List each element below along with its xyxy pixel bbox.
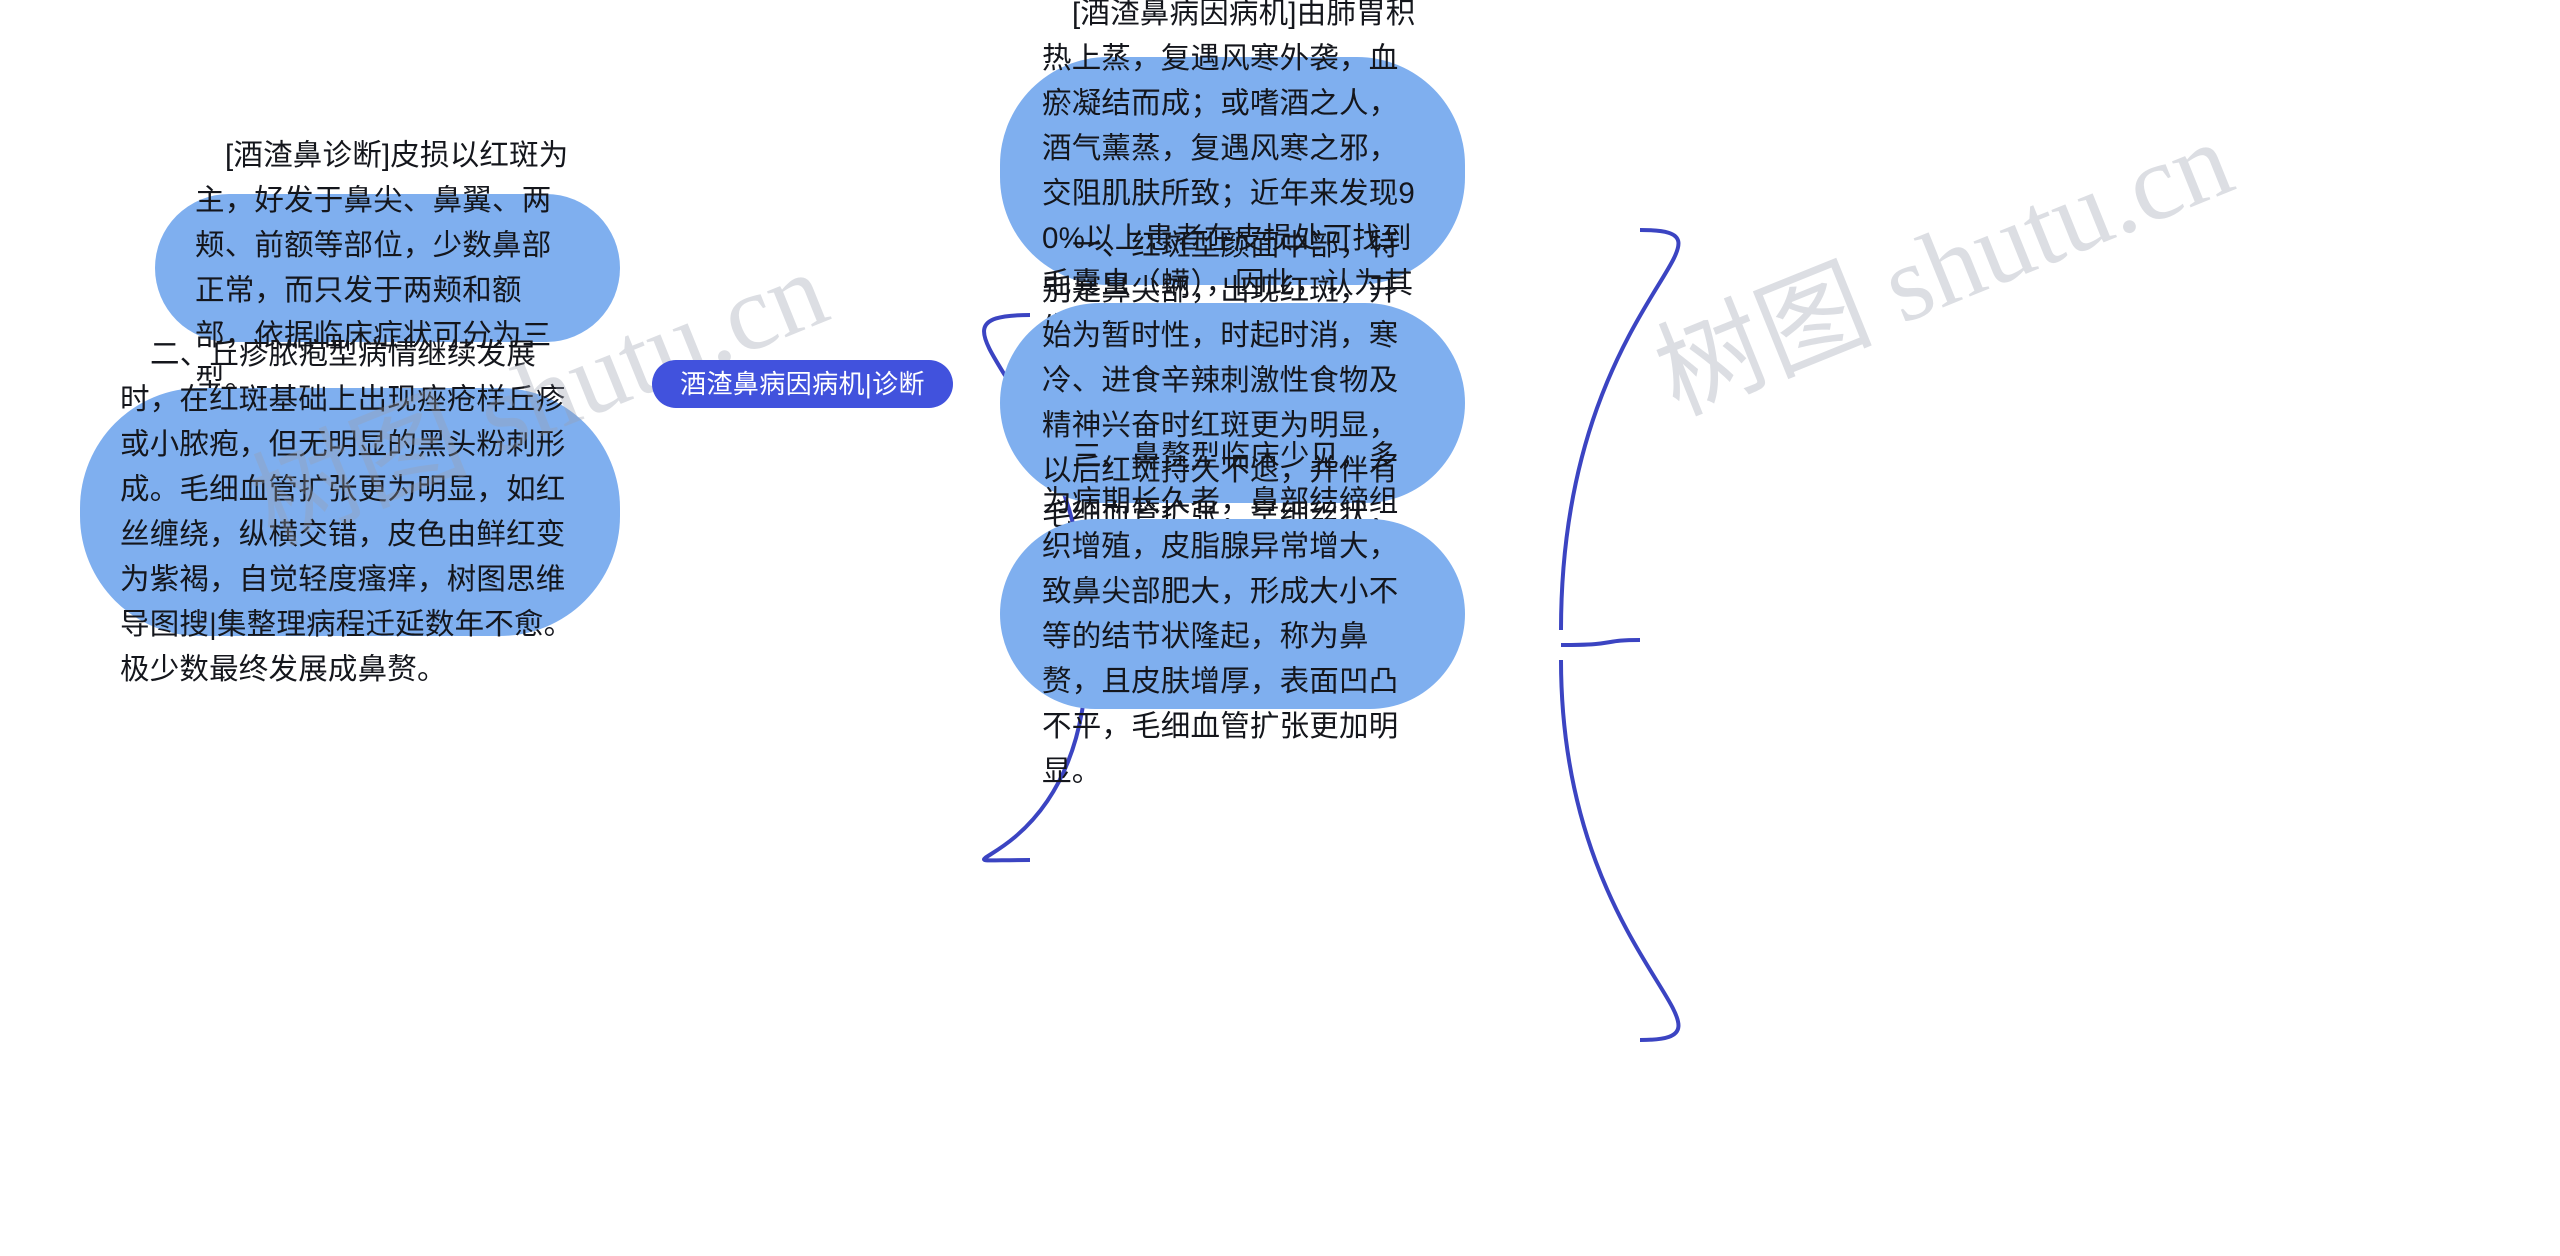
- root-node-label: 酒渣鼻病因病机|诊断: [680, 369, 925, 399]
- mindmap-node-diagnosis[interactable]: [酒渣鼻诊断]皮损以红斑为主，好发于鼻尖、鼻翼、两颊、前额等部位，少数鼻部正常，…: [155, 194, 620, 342]
- edge-center-to-rhinophyma: [1561, 660, 1678, 1040]
- edge-center-to-etiology: [1561, 230, 1678, 630]
- mindmap-node-papulopustular[interactable]: 二、丘疹脓疱型病情继续发展时，在红斑基础上出现痤疮样丘疹或小脓疱，但无明显的黑头…: [80, 388, 620, 636]
- mindmap-node-rhinophyma[interactable]: 三、鼻赘型临床少见，多为病期长久者，鼻部结缔组织增殖，皮脂腺异常增大，致鼻尖部肥…: [1000, 519, 1465, 709]
- node-text-rhinophyma: 三、鼻赘型临床少见，多为病期长久者，鼻部结缔组织增殖，皮脂腺异常增大，致鼻尖部肥…: [1042, 434, 1427, 794]
- node-text-papulopustular: 二、丘疹脓疱型病情继续发展时，在红斑基础上出现痤疮样丘疹或小脓疱，但无明显的黑头…: [120, 332, 576, 692]
- mindmap-root-node[interactable]: 酒渣鼻病因病机|诊断: [652, 360, 953, 408]
- edge-center-to-erythema: [1561, 640, 1640, 645]
- mindmap-canvas: 树图 shutu.cn 树图 shutu.cn [酒渣鼻诊断]皮损以红斑为主，好…: [0, 0, 2560, 1256]
